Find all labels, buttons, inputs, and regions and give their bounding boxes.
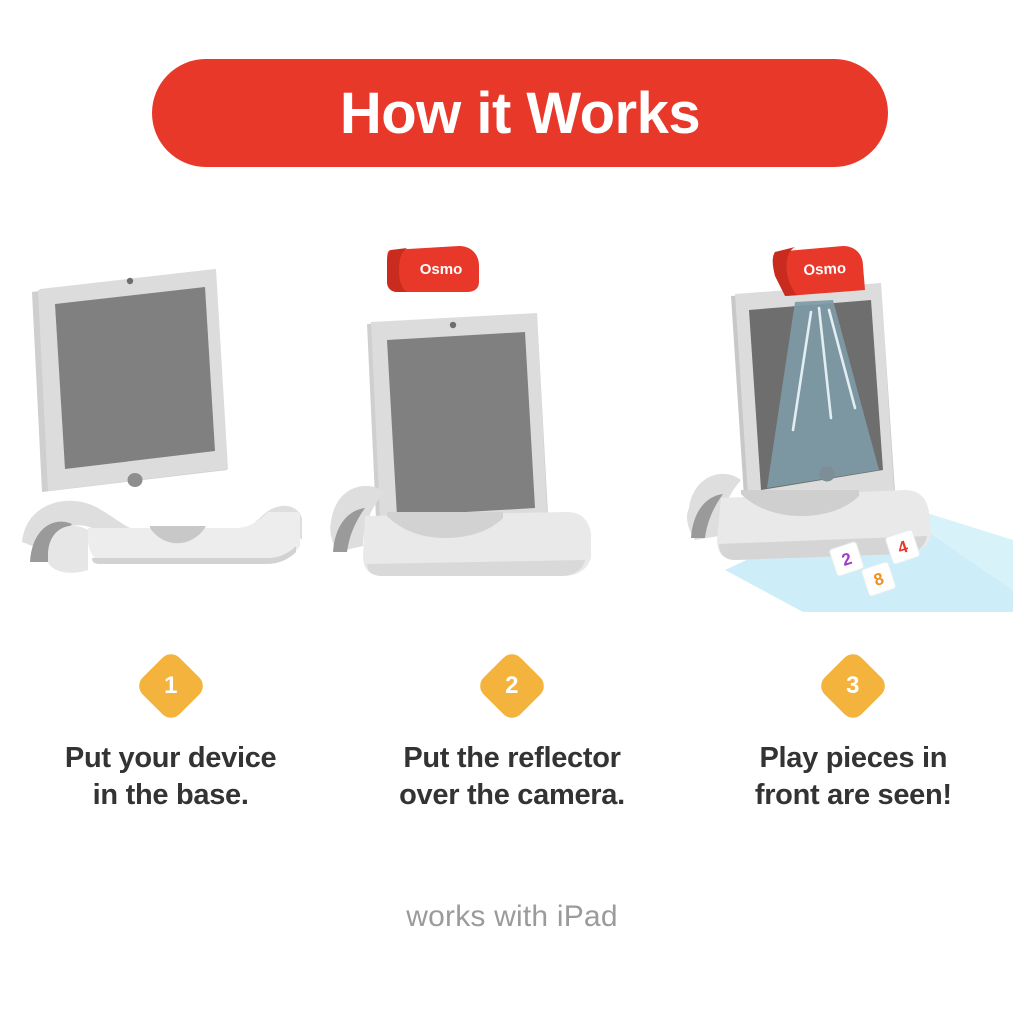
camera-dot <box>450 322 456 328</box>
reflector-piece-3: Osmo <box>772 246 864 296</box>
reflector-piece-2: Osmo <box>387 246 479 292</box>
step-caption-1: Put your device in the base. <box>65 740 276 814</box>
step-3-artwork: Osmo 2 4 8 <box>683 240 1024 640</box>
step-badge-number: 3 <box>847 674 860 698</box>
infographic-page: How it Works <box>0 0 1024 1024</box>
step-caption-3: Play pieces in front are seen! <box>755 740 952 814</box>
step-badge-number: 2 <box>505 674 518 698</box>
footer-note: works with iPad <box>0 900 1024 934</box>
tablet-screen <box>387 332 535 516</box>
step-badge-3: 3 <box>817 649 891 723</box>
step-2-artwork: Osmo <box>341 240 682 640</box>
step-column-2: 2 Put the reflector over the camera. <box>341 660 682 814</box>
header-banner: How it Works <box>152 59 888 167</box>
tablet-device-1 <box>32 269 228 492</box>
step-badge-1: 1 <box>134 649 208 723</box>
step-badge-number: 1 <box>164 674 177 698</box>
illustration-step-3: Osmo 2 4 8 <box>683 240 1024 640</box>
illustration-step-1 <box>0 240 341 640</box>
step-caption-2: Put the reflector over the camera. <box>399 740 625 814</box>
step-badge-2: 2 <box>475 649 549 723</box>
tablet-device-2 <box>367 313 549 540</box>
step-1-artwork <box>0 240 341 640</box>
osmo-base-1 <box>22 501 302 573</box>
reflector-label: Osmo <box>420 261 463 278</box>
reflector-label: Osmo <box>803 260 846 279</box>
page-title: How it Works <box>340 80 700 147</box>
illustrations-row: Osmo <box>0 240 1024 640</box>
tablet-screen <box>55 287 215 469</box>
camera-lens <box>819 467 835 482</box>
camera-dot <box>127 278 133 284</box>
tablet-device-3 <box>731 283 895 512</box>
illustration-step-2: Osmo <box>341 240 682 640</box>
step-column-3: 3 Play pieces in front are seen! <box>683 660 1024 814</box>
step-column-1: 1 Put your device in the base. <box>0 660 341 814</box>
captions-row: 1 Put your device in the base. 2 Put the… <box>0 660 1024 814</box>
home-button <box>128 473 143 487</box>
